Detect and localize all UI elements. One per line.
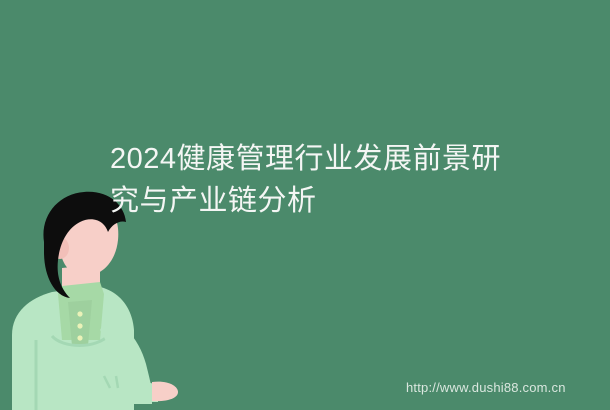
shirt-button-icon (77, 323, 82, 328)
hand (152, 382, 178, 402)
shirt-button-icon (77, 335, 82, 340)
watermark-url: http://www.dushi88.com.cn (406, 380, 566, 395)
shirt-button-icon (77, 311, 82, 316)
page-title: 2024健康管理行业发展前景研究与产业链分析 (110, 138, 510, 222)
promo-banner: 2024健康管理行业发展前景研究与产业链分析 http://www.dushi8… (0, 0, 610, 410)
person-illustration (0, 190, 200, 410)
